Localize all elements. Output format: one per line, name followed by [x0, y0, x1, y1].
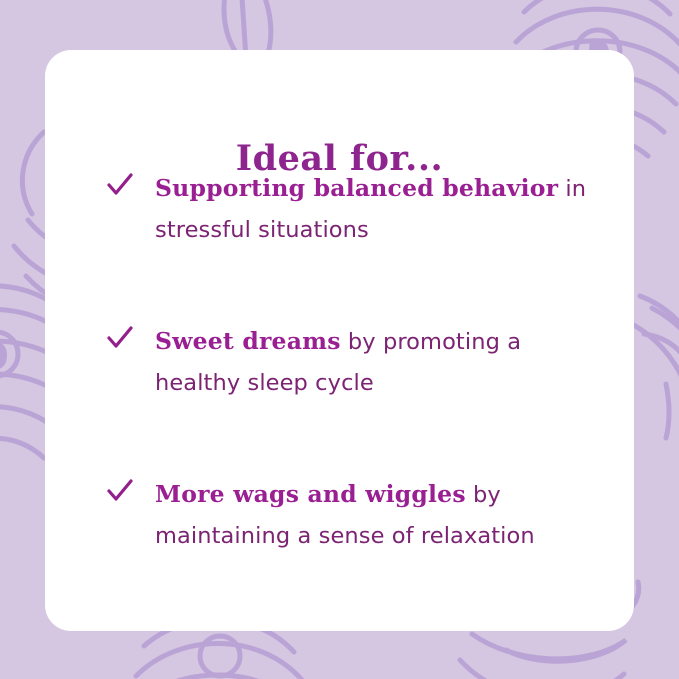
- check-icon: [107, 478, 133, 504]
- benefit-lead: Sweet dreams: [155, 327, 341, 355]
- list-item: More wags and wiggles by maintaining a s…: [103, 474, 610, 556]
- benefit-lead: More wags and wiggles: [155, 480, 466, 508]
- list-item: Supporting balanced behavior in stressfu…: [103, 168, 610, 250]
- ideal-for-poster: Ideal for... Supporting balanced behavio…: [0, 0, 679, 679]
- benefit-text: More wags and wiggles by maintaining a s…: [155, 482, 535, 549]
- benefit-text: Sweet dreams by promoting a healthy slee…: [155, 329, 521, 396]
- benefit-lead: Supporting balanced behavior: [155, 174, 558, 202]
- list-item: Sweet dreams by promoting a healthy slee…: [103, 321, 610, 403]
- check-icon: [107, 325, 133, 351]
- benefit-text: Supporting balanced behavior in stressfu…: [155, 176, 586, 243]
- check-icon: [107, 172, 133, 198]
- content-card: Ideal for... Supporting balanced behavio…: [45, 50, 634, 631]
- benefit-list: Supporting balanced behavior in stressfu…: [103, 168, 610, 556]
